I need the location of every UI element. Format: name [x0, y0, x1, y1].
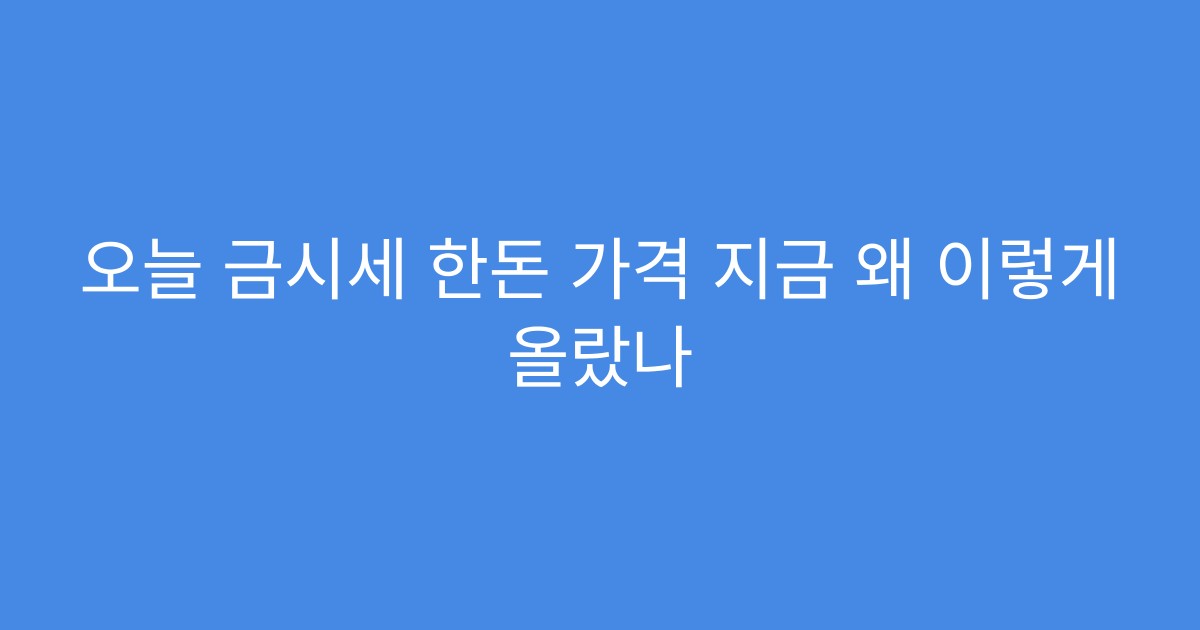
page-title: 오늘 금시세 한돈 가격 지금 왜 이렇게 올랐나 — [40, 227, 1160, 403]
share-card: 오늘 금시세 한돈 가격 지금 왜 이렇게 올랐나 — [0, 0, 1200, 630]
title-block: 오늘 금시세 한돈 가격 지금 왜 이렇게 올랐나 — [40, 227, 1160, 403]
